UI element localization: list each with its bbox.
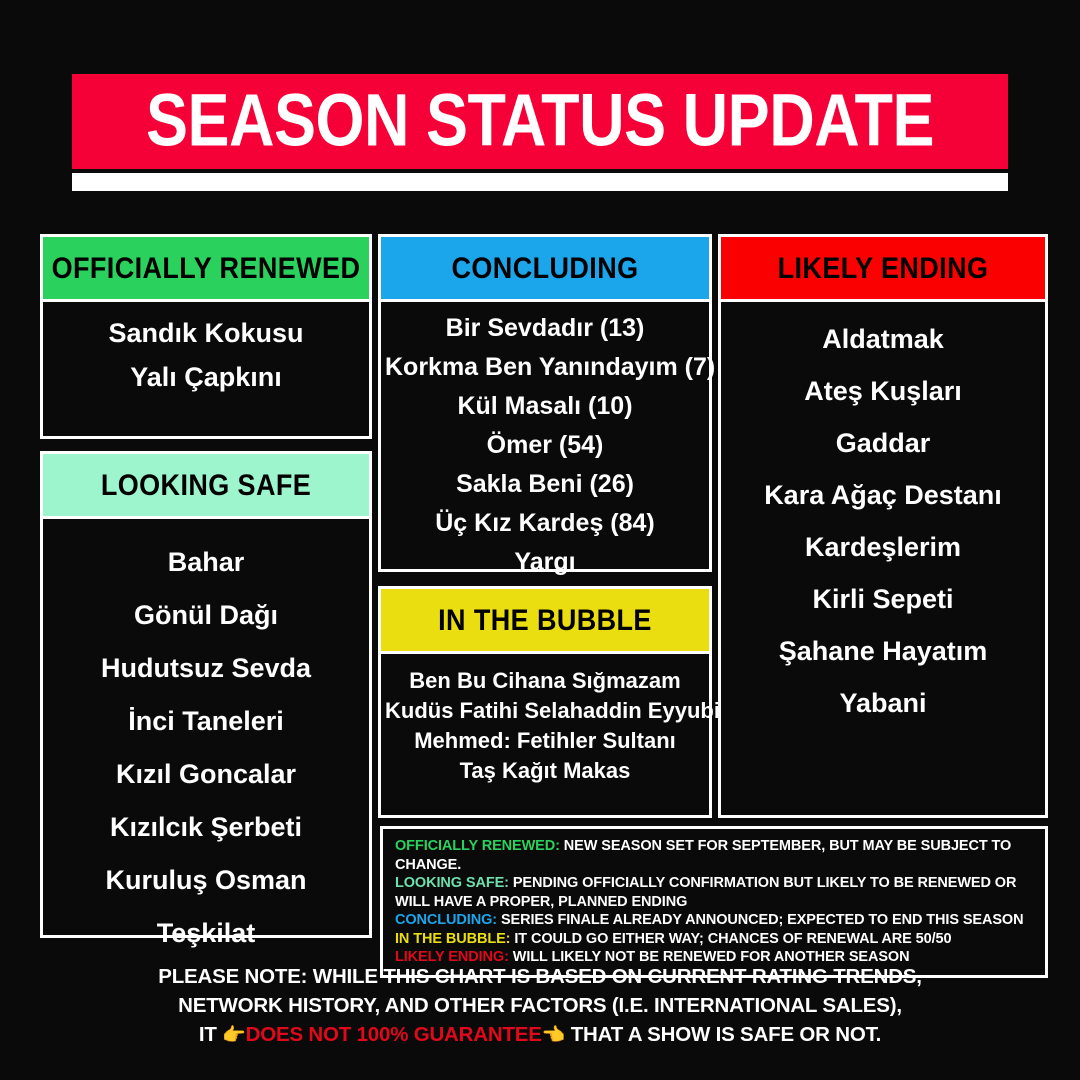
title-underline	[72, 173, 1008, 191]
card-officially-renewed: OFFICIALLY RENEWED Sandık Kokusu Yalı Ça…	[40, 234, 372, 439]
list-item: Sakla Beni (26)	[385, 472, 705, 497]
list-item: Üç Kız Kardeş (84)	[385, 511, 705, 536]
list-item: Kara Ağaç Destanı	[725, 482, 1041, 509]
list-item: Gaddar	[725, 430, 1041, 457]
legend-label: LOOKING SAFE:	[395, 875, 509, 891]
list-item: Kızılcık Şerbeti	[49, 814, 363, 841]
list-item: Şahane Hayatım	[725, 638, 1041, 665]
list-item: Kül Masalı (10)	[385, 394, 705, 419]
title-block: SEASON STATUS UPDATE	[72, 74, 1008, 191]
card-concluding: CONCLUDING Bir Sevdadır (13) Korkma Ben …	[378, 234, 712, 572]
footer-line-3: IT 👉DOES NOT 100% GUARANTEE👈 THAT A SHOW…	[0, 1020, 1080, 1050]
list-item: İnci Taneleri	[49, 708, 363, 735]
card-title: CONCLUDING	[452, 251, 639, 285]
footer-text-post: THAT A SHOW IS SAFE OR NOT.	[565, 1023, 881, 1046]
legend-text: IT COULD GO EITHER WAY; CHANCES OF RENEW…	[510, 931, 951, 947]
card-header-concluding: CONCLUDING	[381, 237, 709, 302]
list-item: Ateş Kuşları	[725, 378, 1041, 405]
legend-row: OFFICIALLY RENEWED: NEW SEASON SET FOR S…	[395, 837, 1035, 874]
card-title: LIKELY ENDING	[778, 251, 989, 285]
card-title: IN THE BUBBLE	[438, 603, 652, 637]
legend-label: OFFICIALLY RENEWED:	[395, 838, 560, 854]
list-item: Korkma Ben Yanındayım (7)	[385, 355, 705, 380]
footer-warning-text: DOES NOT 100% GUARANTEE	[246, 1023, 542, 1046]
pointing-right-hand-icon: 👉	[222, 1025, 245, 1046]
card-header-likely-ending: LIKELY ENDING	[721, 237, 1045, 302]
list-item: Ben Bu Cihana Sığmazam	[385, 670, 705, 692]
column-left: OFFICIALLY RENEWED Sandık Kokusu Yalı Ça…	[40, 234, 372, 950]
list-item: Aldatmak	[725, 326, 1041, 353]
pointing-left-hand-icon: 👈	[542, 1025, 565, 1046]
list-item: Mehmed: Fetihler Sultanı	[385, 730, 705, 752]
page-title: SEASON STATUS UPDATE	[146, 84, 934, 158]
card-header-officially-renewed: OFFICIALLY RENEWED	[43, 237, 369, 302]
list-item: Kuruluş Osman	[49, 867, 363, 894]
list-item: Yargı	[385, 550, 705, 575]
card-header-in-the-bubble: IN THE BUBBLE	[381, 589, 709, 654]
footer-line-2: NETWORK HISTORY, AND OTHER FACTORS (I.E.…	[0, 991, 1080, 1020]
legend-box: OFFICIALLY RENEWED: NEW SEASON SET FOR S…	[380, 826, 1048, 978]
list-item: Sandık Kokusu	[49, 320, 363, 347]
card-title: OFFICIALLY RENEWED	[52, 251, 361, 285]
show-list-concluding: Bir Sevdadır (13) Korkma Ben Yanındayım …	[381, 302, 709, 607]
card-header-looking-safe: LOOKING SAFE	[43, 454, 369, 519]
legend-text: SERIES FINALE ALREADY ANNOUNCED; EXPECTE…	[497, 912, 1023, 928]
list-item: Kardeşlerim	[725, 534, 1041, 561]
show-list-officially-renewed: Sandık Kokusu Yalı Çapkını	[43, 302, 369, 434]
list-item: Bir Sevdadır (13)	[385, 316, 705, 341]
list-item: Gönül Dağı	[49, 602, 363, 629]
card-in-the-bubble: IN THE BUBBLE Ben Bu Cihana Sığmazam Kud…	[378, 586, 712, 818]
list-item: Hudutsuz Sevda	[49, 655, 363, 682]
footer-disclaimer: PLEASE NOTE: WHILE THIS CHART IS BASED O…	[0, 962, 1080, 1050]
list-item: Yalı Çapkını	[49, 364, 363, 391]
legend-label: IN THE BUBBLE:	[395, 931, 510, 947]
show-list-looking-safe: Bahar Gönül Dağı Hudutsuz Sevda İnci Tan…	[43, 519, 369, 1007]
title-band: SEASON STATUS UPDATE	[72, 74, 1008, 169]
list-item: Ömer (54)	[385, 433, 705, 458]
footer-line-1: PLEASE NOTE: WHILE THIS CHART IS BASED O…	[0, 962, 1080, 991]
footer-text-pre: IT	[199, 1023, 222, 1046]
list-item: Taş Kağıt Makas	[385, 760, 705, 782]
card-looking-safe: LOOKING SAFE Bahar Gönül Dağı Hudutsuz S…	[40, 451, 372, 938]
show-list-likely-ending: Aldatmak Ateş Kuşları Gaddar Kara Ağaç D…	[721, 302, 1045, 768]
list-item: Teşkilat	[49, 920, 363, 947]
legend-row: IN THE BUBBLE: IT COULD GO EITHER WAY; C…	[395, 930, 1035, 949]
list-item: Kızıl Goncalar	[49, 761, 363, 788]
list-item: Kirli Sepeti	[725, 586, 1041, 613]
card-likely-ending: LIKELY ENDING Aldatmak Ateş Kuşları Gadd…	[718, 234, 1048, 818]
list-item: Bahar	[49, 549, 363, 576]
season-status-infographic: SEASON STATUS UPDATE OFFICIALLY RENEWED …	[0, 0, 1080, 1080]
show-list-in-the-bubble: Ben Bu Cihana Sığmazam Kudüs Fatihi Sela…	[381, 654, 709, 812]
list-item: Yabani	[725, 690, 1041, 717]
card-title: LOOKING SAFE	[101, 468, 311, 502]
legend-row: CONCLUDING: SERIES FINALE ALREADY ANNOUN…	[395, 911, 1035, 930]
legend-label: CONCLUDING:	[395, 912, 497, 928]
legend-row: LOOKING SAFE: PENDING OFFICIALLY CONFIRM…	[395, 874, 1035, 911]
list-item: Kudüs Fatihi Selahaddin Eyyubi	[385, 700, 705, 722]
